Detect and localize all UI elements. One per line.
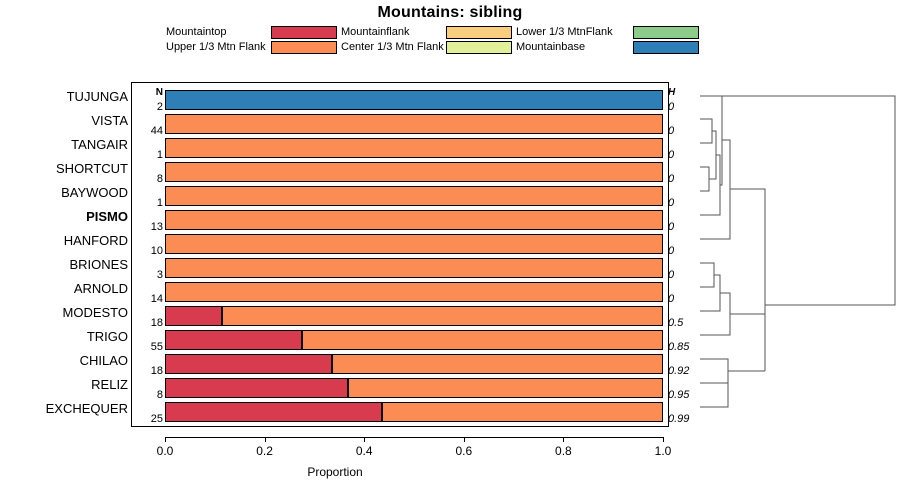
n-value: 8 (133, 174, 163, 185)
bar-segment[interactable] (165, 114, 663, 134)
row-label: VISTA (18, 114, 128, 127)
n-value: 1 (133, 150, 163, 161)
legend-label: Mountaintop (166, 25, 227, 40)
row-label: CHILAO (18, 354, 128, 367)
row-label: RELIZ (18, 378, 128, 391)
n-value: 18 (133, 318, 163, 329)
stacked-bar[interactable] (165, 402, 663, 422)
x-tick (663, 437, 664, 442)
dendrogram (690, 82, 900, 427)
bar-segment[interactable] (165, 234, 663, 254)
x-axis-label: Proportion (0, 465, 670, 479)
legend-item: Mountainbase (516, 40, 691, 55)
x-tick-label: 0.2 (245, 444, 285, 458)
n-value: 1 (133, 198, 163, 209)
bar-segment[interactable] (222, 306, 663, 326)
bar-segment[interactable] (165, 354, 332, 374)
x-tick (364, 437, 365, 442)
stacked-bar[interactable] (165, 210, 663, 230)
legend-item: Mountainflank (341, 25, 516, 40)
legend-label: Mountainflank (341, 25, 410, 40)
n-value: 10 (133, 246, 163, 257)
legend-label: Center 1/3 Mtn Flank (341, 40, 444, 55)
legend-swatch-center-third (446, 41, 512, 54)
legend-column-2: Mountainflank Center 1/3 Mtn Flank (341, 25, 516, 55)
stacked-bar[interactable] (165, 162, 663, 182)
legend-swatch-mountainbase (633, 41, 699, 54)
row-label: EXCHEQUER (18, 402, 128, 415)
bar-segment[interactable] (165, 162, 663, 182)
legend: Mountaintop Upper 1/3 Mtn Flank Mountain… (166, 25, 686, 55)
legend-label: Mountainbase (516, 40, 585, 55)
bar-segment[interactable] (165, 258, 663, 278)
n-value: 25 (133, 414, 163, 425)
legend-swatch-upper-third (271, 41, 337, 54)
bar-segment[interactable] (348, 378, 663, 398)
n-value: 2 (133, 102, 163, 113)
dendrogram-svg (690, 82, 900, 427)
bar-segment[interactable] (165, 90, 663, 110)
bar-segment[interactable] (165, 210, 663, 230)
x-tick-label: 0.0 (145, 444, 185, 458)
x-tick (165, 437, 166, 442)
bar-segment[interactable] (165, 186, 663, 206)
stacked-bar[interactable] (165, 378, 663, 398)
n-value: 13 (133, 222, 163, 233)
stacked-bar[interactable] (165, 138, 663, 158)
bar-segment[interactable] (165, 330, 302, 350)
stacked-bar[interactable] (165, 354, 663, 374)
row-label: TUJUNGA (18, 90, 128, 103)
bar-segment[interactable] (165, 138, 663, 158)
chart-title: Mountains: sibling (0, 4, 900, 22)
bar-segment[interactable] (165, 282, 663, 302)
row-label: MODESTO (18, 306, 128, 319)
stacked-bar[interactable] (165, 114, 663, 134)
bar-segment[interactable] (332, 354, 663, 374)
x-tick-label: 0.6 (444, 444, 484, 458)
legend-item: Lower 1/3 MtnFlank (516, 25, 691, 40)
x-tick (265, 437, 266, 442)
legend-swatch-mountainflank (446, 26, 512, 39)
n-value: 14 (133, 294, 163, 305)
row-label: SHORTCUT (18, 162, 128, 175)
row-label: PISMO (18, 210, 128, 223)
legend-label: Lower 1/3 MtnFlank (516, 25, 613, 40)
legend-item: Mountaintop (166, 25, 341, 40)
x-tick-label: 1.0 (643, 444, 683, 458)
row-label: HANFORD (18, 234, 128, 247)
n-value: 8 (133, 390, 163, 401)
chart-root: Mountains: sibling Mountaintop Upper 1/3… (0, 0, 900, 500)
legend-item: Upper 1/3 Mtn Flank (166, 40, 341, 55)
bar-segment[interactable] (382, 402, 663, 422)
n-value: 18 (133, 366, 163, 377)
stacked-bar[interactable] (165, 306, 663, 326)
n-value: 3 (133, 270, 163, 281)
row-label: BRIONES (18, 258, 128, 271)
bar-segment[interactable] (302, 330, 663, 350)
legend-item: Center 1/3 Mtn Flank (341, 40, 516, 55)
bar-segment[interactable] (165, 306, 222, 326)
x-axis-line (165, 437, 663, 438)
x-tick (464, 437, 465, 442)
row-label: TANGAIR (18, 138, 128, 151)
legend-label: Upper 1/3 Mtn Flank (166, 40, 266, 55)
bar-segment[interactable] (165, 378, 348, 398)
n-column-header: N (133, 88, 163, 98)
legend-column-1: Mountaintop Upper 1/3 Mtn Flank (166, 25, 341, 55)
row-label: TRIGO (18, 330, 128, 343)
stacked-bar[interactable] (165, 282, 663, 302)
x-tick-label: 0.8 (543, 444, 583, 458)
stacked-bar[interactable] (165, 258, 663, 278)
n-value: 44 (133, 126, 163, 137)
n-value: 55 (133, 342, 163, 353)
bar-segment[interactable] (165, 402, 382, 422)
x-tick (563, 437, 564, 442)
stacked-bar[interactable] (165, 234, 663, 254)
row-label: ARNOLD (18, 282, 128, 295)
stacked-bar[interactable] (165, 330, 663, 350)
legend-swatch-mountaintop (271, 26, 337, 39)
x-tick-label: 0.4 (344, 444, 384, 458)
stacked-bar[interactable] (165, 186, 663, 206)
legend-swatch-lower-third (633, 26, 699, 39)
legend-column-3: Lower 1/3 MtnFlank Mountainbase (516, 25, 691, 55)
row-label: BAYWOOD (18, 186, 128, 199)
stacked-bar[interactable] (165, 90, 663, 110)
